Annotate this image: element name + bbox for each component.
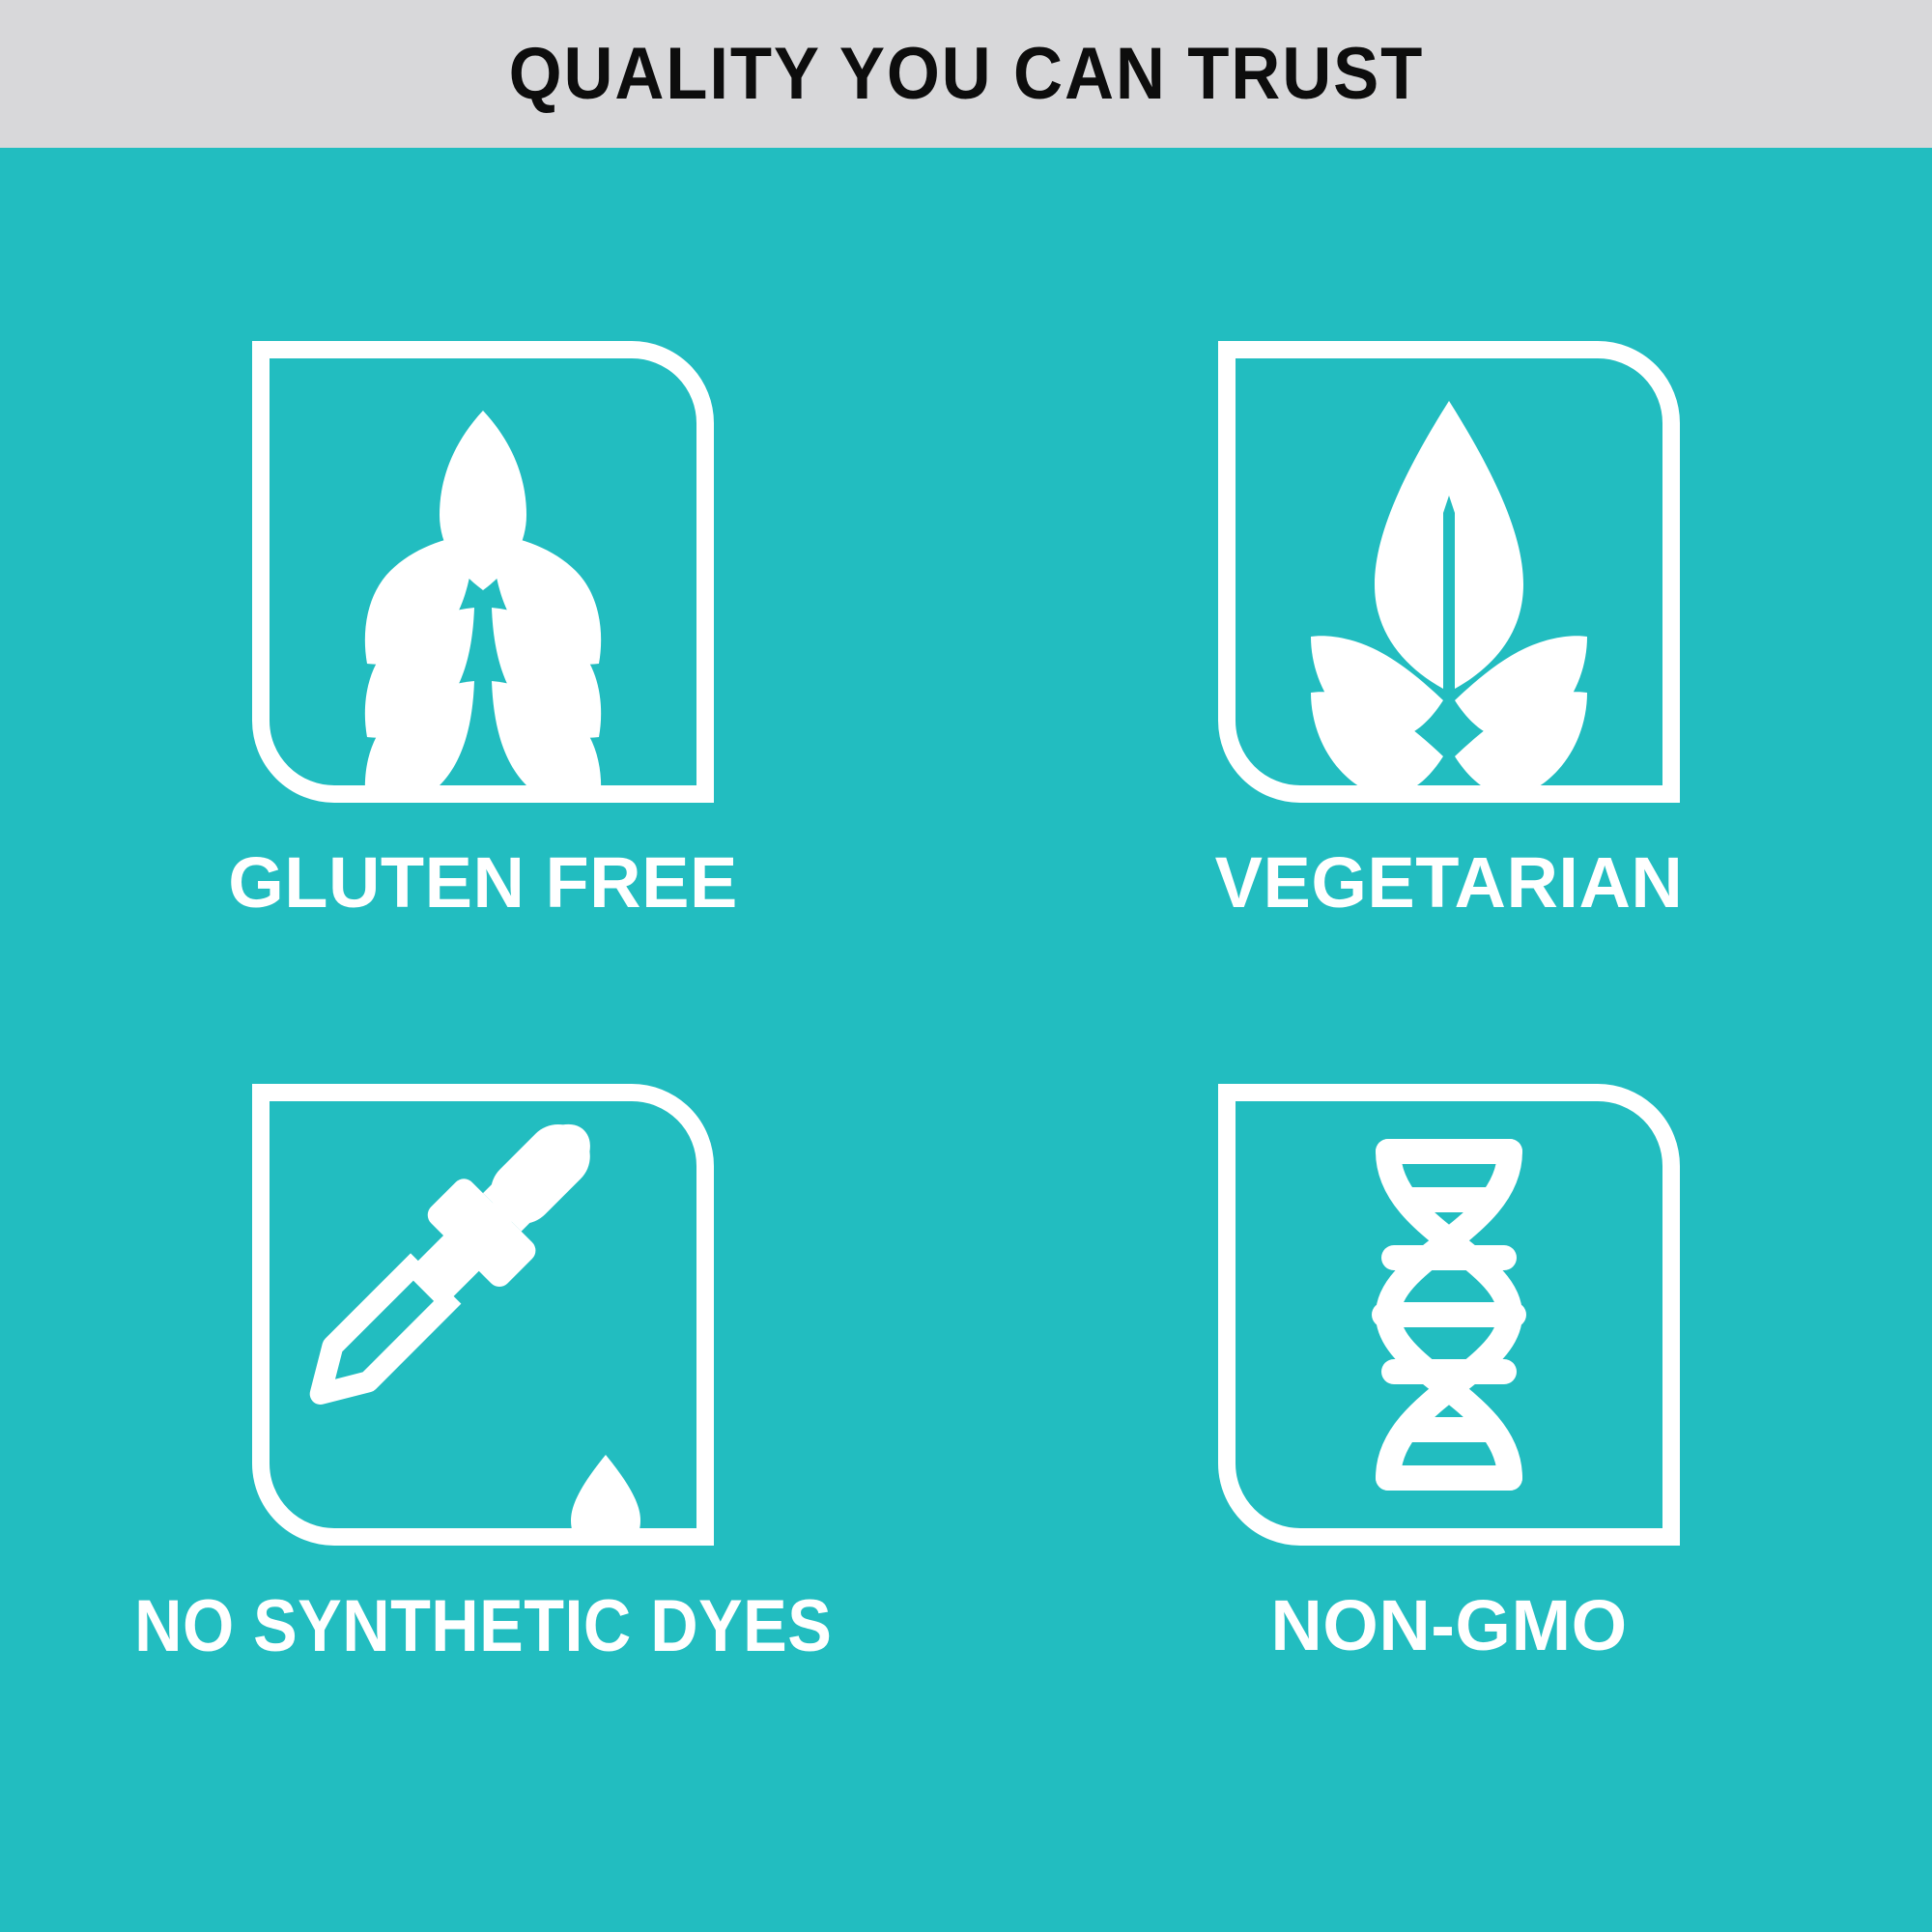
badge-gluten-free[interactable]: GLUTEN FREE bbox=[0, 206, 966, 1055]
badge-frame bbox=[252, 341, 714, 803]
badge-label-vegetarian: VEGETARIAN bbox=[1215, 847, 1684, 919]
badge-label-gluten-free: GLUTEN FREE bbox=[228, 847, 738, 919]
header-band: QUALITY YOU CAN TRUST bbox=[0, 0, 1932, 148]
wheat-icon bbox=[365, 411, 601, 803]
frame-outline bbox=[261, 1093, 705, 1537]
badge-label-no-synthetic-dyes: NO SYNTHETIC DYES bbox=[134, 1590, 832, 1663]
leaf-icon bbox=[1311, 401, 1587, 795]
page-title: QUALITY YOU CAN TRUST bbox=[508, 38, 1423, 111]
dropper-icon bbox=[282, 1092, 640, 1546]
droplet-icon bbox=[571, 1455, 640, 1546]
badge-label-non-gmo: NON-GMO bbox=[1270, 1590, 1627, 1662]
badge-grid: GLUTEN FREE VEGETARIAN bbox=[0, 148, 1932, 1932]
dna-icon bbox=[1384, 1151, 1514, 1478]
badge-frame bbox=[1218, 1084, 1680, 1546]
badge-vegetarian[interactable]: VEGETARIAN bbox=[966, 206, 1932, 1055]
badge-no-synthetic-dyes[interactable]: NO SYNTHETIC DYES bbox=[0, 1055, 966, 1904]
badge-frame bbox=[1218, 341, 1680, 803]
badge-frame bbox=[252, 1084, 714, 1546]
badge-non-gmo[interactable]: NON-GMO bbox=[966, 1055, 1932, 1904]
